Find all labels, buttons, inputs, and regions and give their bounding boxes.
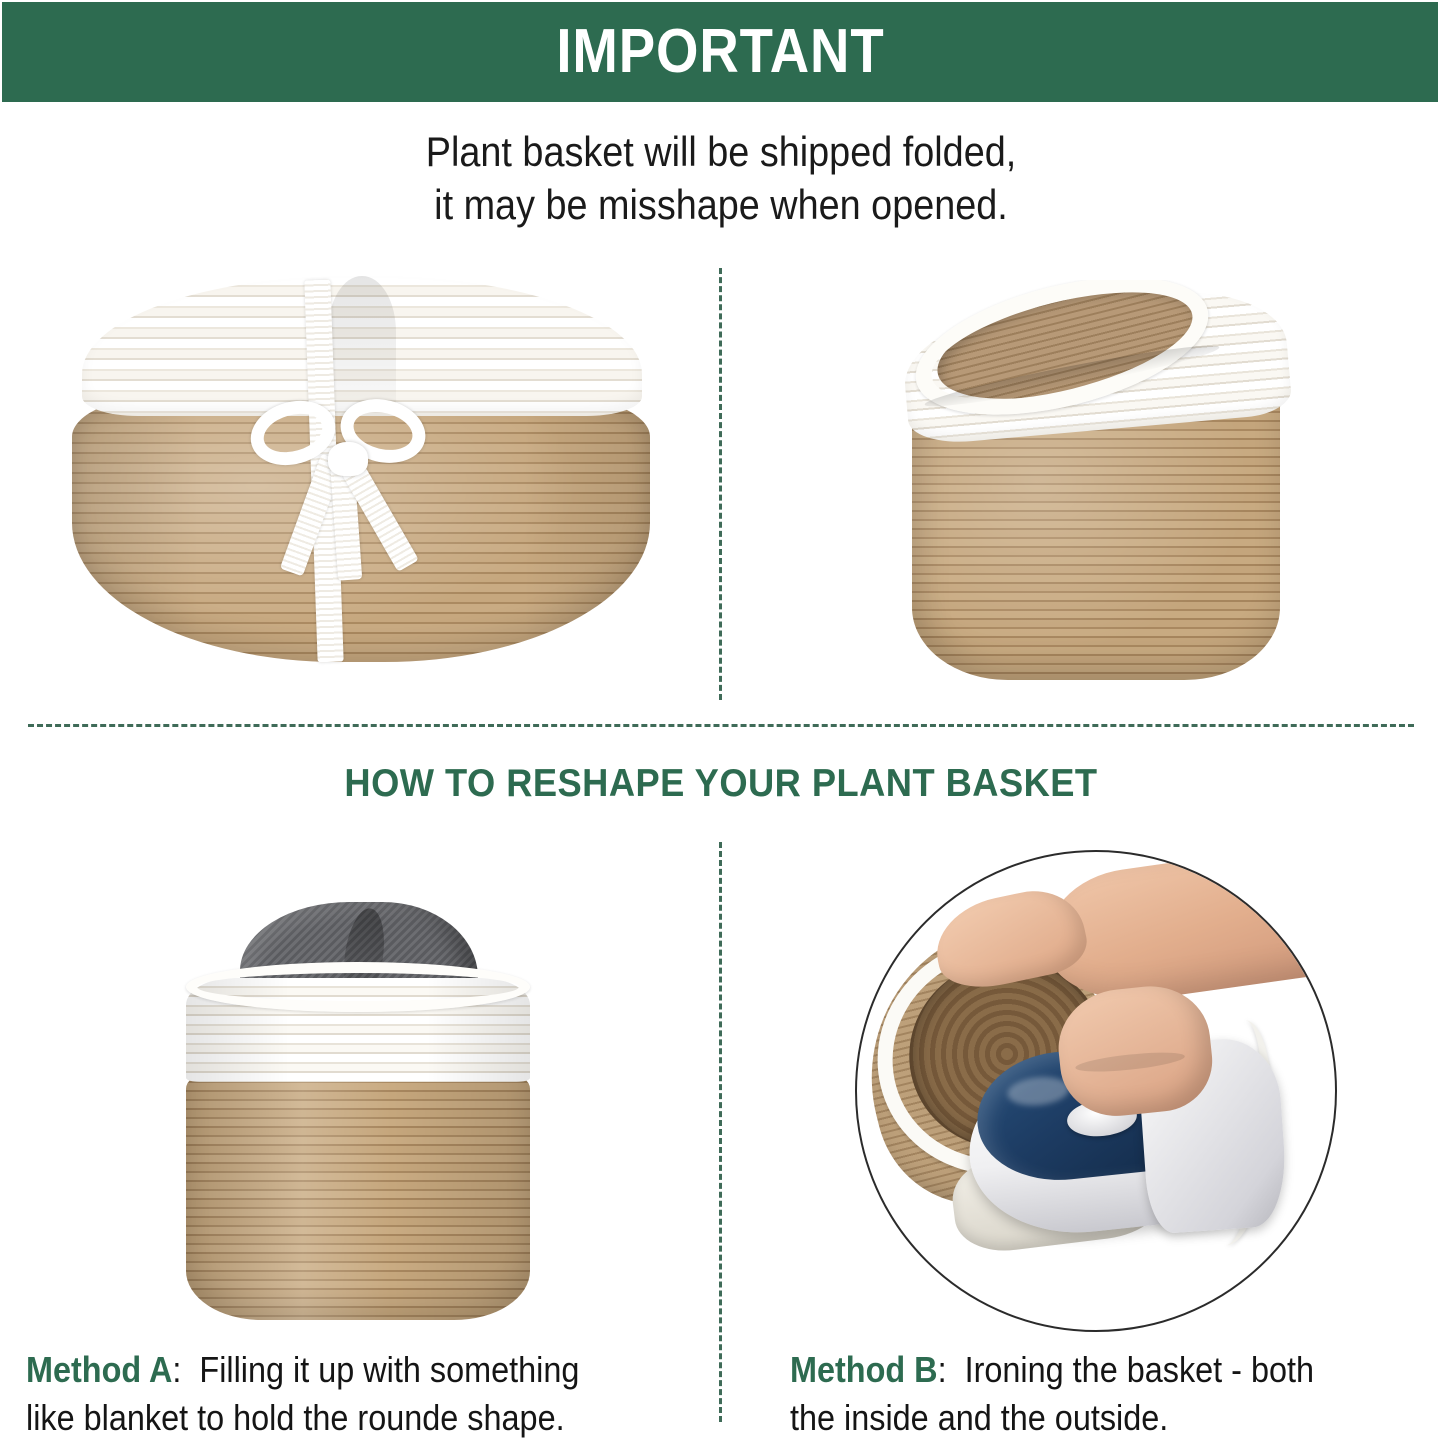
method-a-caption: Method A: Filling it up with something l… [26, 1346, 692, 1442]
method-a-separator: : [172, 1349, 181, 1390]
ribbon-bow [248, 396, 468, 606]
banner-title: IMPORTANT [556, 21, 884, 83]
vertical-divider-top [719, 268, 722, 700]
important-banner: IMPORTANT [2, 2, 1438, 102]
method-b-text-1: Ironing the basket - both [965, 1349, 1314, 1390]
folded-basket-photo [48, 258, 678, 678]
subtitle-block: Plant basket will be shipped folded, it … [72, 126, 1370, 231]
blanket-basket-rim [186, 962, 530, 1012]
infographic-page: IMPORTANT Plant basket will be shipped f… [0, 0, 1442, 1438]
method-a-line-2: like blanket to hold the rounde shape. [26, 1394, 692, 1442]
method-a-text-1: Filling it up with something [199, 1349, 579, 1390]
method-a-line-1: Method A: Filling it up with something [26, 1346, 692, 1394]
vertical-divider-bottom [719, 842, 722, 1422]
blanket-basket-photo [178, 896, 568, 1326]
method-b-separator: : [938, 1349, 947, 1390]
folded-basket-white-rim [82, 276, 642, 416]
section-heading: HOW TO RESHAPE YOUR PLANT BASKET [50, 762, 1391, 806]
blanket-basket-jute-section [186, 1074, 530, 1320]
method-b-line-2: the inside and the outside. [790, 1394, 1438, 1442]
squashed-basket-photo [882, 280, 1312, 692]
method-a-label: Method A [26, 1349, 172, 1390]
subtitle-line-2: it may be misshape when opened. [72, 179, 1370, 232]
subtitle-line-1: Plant basket will be shipped folded, [72, 126, 1370, 179]
ironing-basket-photo [855, 850, 1337, 1332]
folded-basket-body [60, 268, 660, 668]
method-b-caption: Method B: Ironing the basket - both the … [790, 1346, 1438, 1442]
method-b-label: Method B [790, 1349, 938, 1390]
horizontal-divider [28, 724, 1414, 727]
bow-knot [328, 442, 368, 476]
method-b-line-1: Method B: Ironing the basket - both [790, 1346, 1438, 1394]
